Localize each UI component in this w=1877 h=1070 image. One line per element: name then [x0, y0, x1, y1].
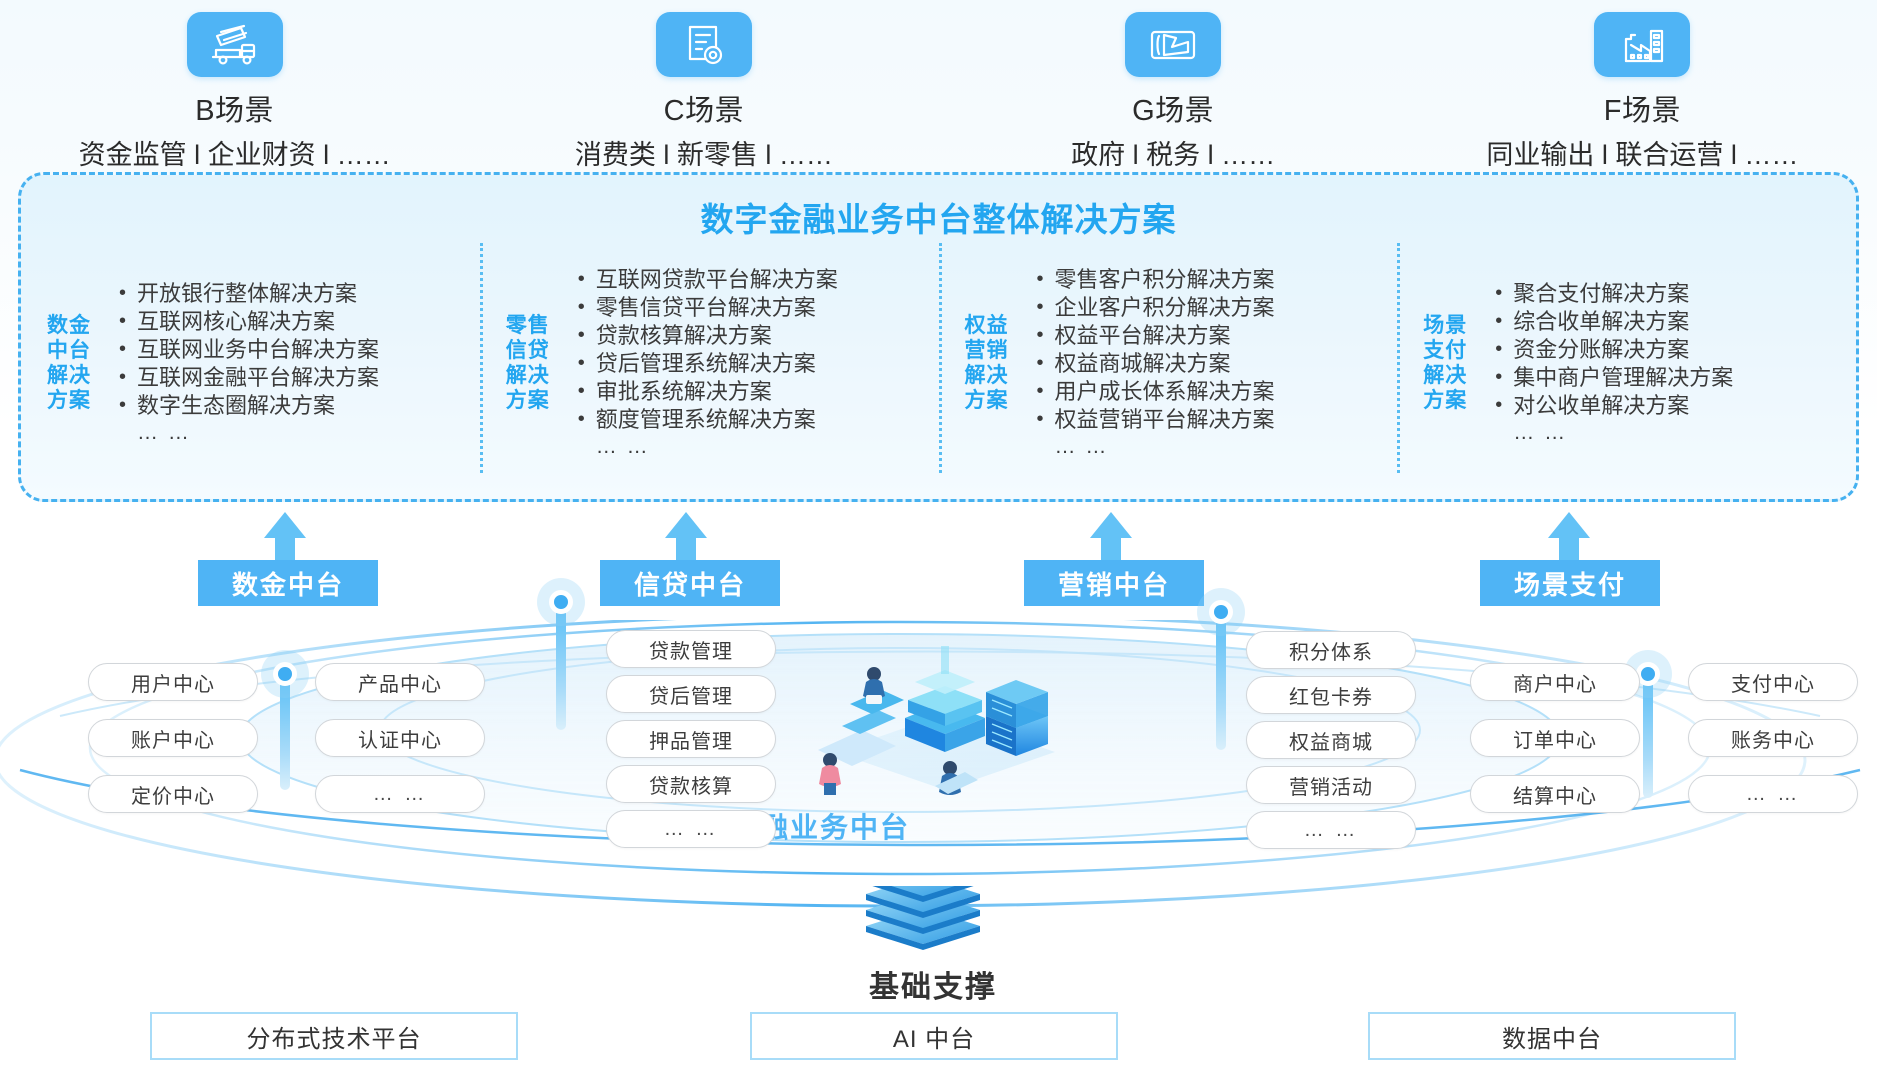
solution-item: 对公收单解决方案: [1495, 392, 1856, 420]
connector-dot-marketing: [1209, 600, 1233, 624]
solution-list-ellipsis: … …: [1037, 434, 1398, 460]
capability-pill[interactable]: 账务中心: [1688, 719, 1858, 757]
capability-pill[interactable]: … …: [1688, 775, 1858, 813]
connector-dot-credit: [549, 590, 573, 614]
platform-tag-credit[interactable]: 信贷中台: [600, 560, 780, 606]
solution-column-rights-marketing: 权益 营销 解决 方案 零售客户积分解决方案 企业客户积分解决方案 权益平台解决…: [939, 237, 1398, 489]
solution-list-ellipsis: … …: [1495, 420, 1856, 446]
solution-item-list: 开放银行整体解决方案 互联网核心解决方案 互联网业务中台解决方案 互联网金融平台…: [119, 280, 480, 420]
capability-pill[interactable]: 营销活动: [1246, 766, 1416, 804]
solution-item: 聚合支付解决方案: [1495, 280, 1856, 308]
solution-item: 开放银行整体解决方案: [119, 280, 480, 308]
base-box-distributed-tech[interactable]: 分布式技术平台: [150, 1012, 518, 1060]
solution-panel-title: 数字金融业务中台整体解决方案: [21, 193, 1856, 241]
solution-item: 权益平台解决方案: [1037, 322, 1398, 350]
column-label: 场景 支付 解决 方案: [1423, 237, 1485, 489]
capability-pill[interactable]: 认证中心: [315, 719, 485, 757]
solution-item: 数字生态圈解决方案: [119, 392, 480, 420]
capability-pill[interactable]: 贷款管理: [606, 630, 776, 668]
solution-item: 集中商户管理解决方案: [1495, 364, 1856, 392]
solution-item-list: 互联网贷款平台解决方案 零售信贷平台解决方案 贷款核算解决方案 贷后管理系统解决…: [578, 266, 939, 434]
solution-item: 互联网业务中台解决方案: [119, 336, 480, 364]
capability-pill[interactable]: 红包卡券: [1246, 676, 1416, 714]
solution-item: 互联网金融平台解决方案: [119, 364, 480, 392]
solution-column-scenario-payment: 场景 支付 解决 方案 聚合支付解决方案 综合收单解决方案 资金分账解决方案 集…: [1397, 237, 1856, 489]
solution-item: 权益营销平台解决方案: [1037, 406, 1398, 434]
scene-title: B场景: [195, 87, 274, 129]
capability-pill[interactable]: 结算中心: [1470, 775, 1640, 813]
scene-card-c[interactable]: C场景 消费类 l 新零售 l ……: [469, 0, 938, 172]
scene-title: C场景: [664, 87, 744, 129]
solution-item: 综合收单解决方案: [1495, 308, 1856, 336]
connector-stem-credit: [556, 600, 566, 730]
capability-pill[interactable]: 定价中心: [88, 775, 258, 813]
solution-item-list: 聚合支付解决方案 综合收单解决方案 资金分账解决方案 集中商户管理解决方案 对公…: [1495, 280, 1856, 420]
solution-list-ellipsis: … …: [578, 434, 939, 460]
solution-column-digital-finance: 数金 中台 解决 方案 开放银行整体解决方案 互联网核心解决方案 互联网业务中台…: [21, 237, 480, 489]
factory-icon: [1594, 12, 1690, 77]
capability-pill[interactable]: 贷后管理: [606, 675, 776, 713]
connector-dot-digital-finance: [273, 662, 297, 686]
capability-pill[interactable]: … …: [606, 810, 776, 848]
scene-subtitle: 资金监管 l 企业财资 l ……: [79, 133, 391, 172]
base-box-ai-platform[interactable]: AI 中台: [750, 1012, 1118, 1060]
connector-stem-marketing: [1216, 610, 1226, 750]
solution-item: 用户成长体系解决方案: [1037, 378, 1398, 406]
column-label: 零售 信贷 解决 方案: [506, 237, 568, 489]
capability-pill[interactable]: 账户中心: [88, 719, 258, 757]
column-label: 权益 营销 解决 方案: [965, 237, 1027, 489]
capability-pill[interactable]: 订单中心: [1470, 719, 1640, 757]
capability-pill[interactable]: 用户中心: [88, 663, 258, 701]
base-support-title: 基础支撑: [869, 962, 997, 1006]
scenes-row: B场景 资金监管 l 企业财资 l …… C场景 消费类 l 新零售 l ……: [0, 0, 1877, 172]
solution-column-retail-credit: 零售 信贷 解决 方案 互联网贷款平台解决方案 零售信贷平台解决方案 贷款核算解…: [480, 237, 939, 489]
solution-item: 审批系统解决方案: [578, 378, 939, 406]
truck-cargo-icon: [187, 12, 283, 77]
scene-card-f[interactable]: F场景 同业输出 l 联合运营 l ……: [1408, 0, 1877, 172]
capability-pill[interactable]: 积分体系: [1246, 631, 1416, 669]
capability-pill[interactable]: 权益商城: [1246, 721, 1416, 759]
platform-tag-payment[interactable]: 场景支付: [1480, 560, 1660, 606]
scene-title: F场景: [1604, 87, 1681, 129]
capability-pill[interactable]: 产品中心: [315, 663, 485, 701]
solution-list-ellipsis: … …: [119, 420, 480, 446]
scene-card-b[interactable]: B场景 资金监管 l 企业财资 l ……: [0, 0, 469, 172]
solution-item: 互联网核心解决方案: [119, 308, 480, 336]
platform-tag-marketing[interactable]: 营销中台: [1024, 560, 1204, 606]
solution-item: 贷款核算解决方案: [578, 322, 939, 350]
diagram-canvas: B场景 资金监管 l 企业财资 l …… C场景 消费类 l 新零售 l ……: [0, 0, 1877, 1070]
solution-item: 零售客户积分解决方案: [1037, 266, 1398, 294]
solution-item: 零售信贷平台解决方案: [578, 294, 939, 322]
scene-subtitle: 同业输出 l 联合运营 l ……: [1486, 133, 1798, 172]
scene-title: G场景: [1132, 87, 1214, 129]
solution-item: 资金分账解决方案: [1495, 336, 1856, 364]
document-seal-icon: [656, 12, 752, 77]
solution-item: 企业客户积分解决方案: [1037, 294, 1398, 322]
capability-pill[interactable]: 支付中心: [1688, 663, 1858, 701]
platform-tag-digital-finance[interactable]: 数金中台: [198, 560, 378, 606]
scene-card-g[interactable]: G场景 政府 l 税务 l ……: [939, 0, 1408, 172]
layered-stack-icon: [858, 886, 988, 962]
isometric-platform-illustration: [800, 640, 1090, 810]
capability-pill[interactable]: … …: [315, 775, 485, 813]
column-label: 数金 中台 解决 方案: [47, 237, 109, 489]
capability-pill[interactable]: … …: [1246, 811, 1416, 849]
solution-item-list: 零售客户积分解决方案 企业客户积分解决方案 权益平台解决方案 权益商城解决方案 …: [1037, 266, 1398, 434]
flag-banner-icon: [1125, 12, 1221, 77]
base-box-data-platform[interactable]: 数据中台: [1368, 1012, 1736, 1060]
connector-stem-digital-finance: [280, 672, 290, 790]
solution-item: 互联网贷款平台解决方案: [578, 266, 939, 294]
solution-item: 权益商城解决方案: [1037, 350, 1398, 378]
capability-pill[interactable]: 贷款核算: [606, 765, 776, 803]
scene-subtitle: 消费类 l 新零售 l ……: [575, 133, 833, 172]
solution-item: 额度管理系统解决方案: [578, 406, 939, 434]
connector-stem-payment: [1643, 672, 1653, 798]
scene-subtitle: 政府 l 税务 l ……: [1071, 133, 1275, 172]
capability-pill[interactable]: 商户中心: [1470, 663, 1640, 701]
solution-item: 贷后管理系统解决方案: [578, 350, 939, 378]
capability-pill[interactable]: 押品管理: [606, 720, 776, 758]
solution-panel: 数字金融业务中台整体解决方案 数金 中台 解决 方案 开放银行整体解决方案 互联…: [18, 172, 1859, 502]
